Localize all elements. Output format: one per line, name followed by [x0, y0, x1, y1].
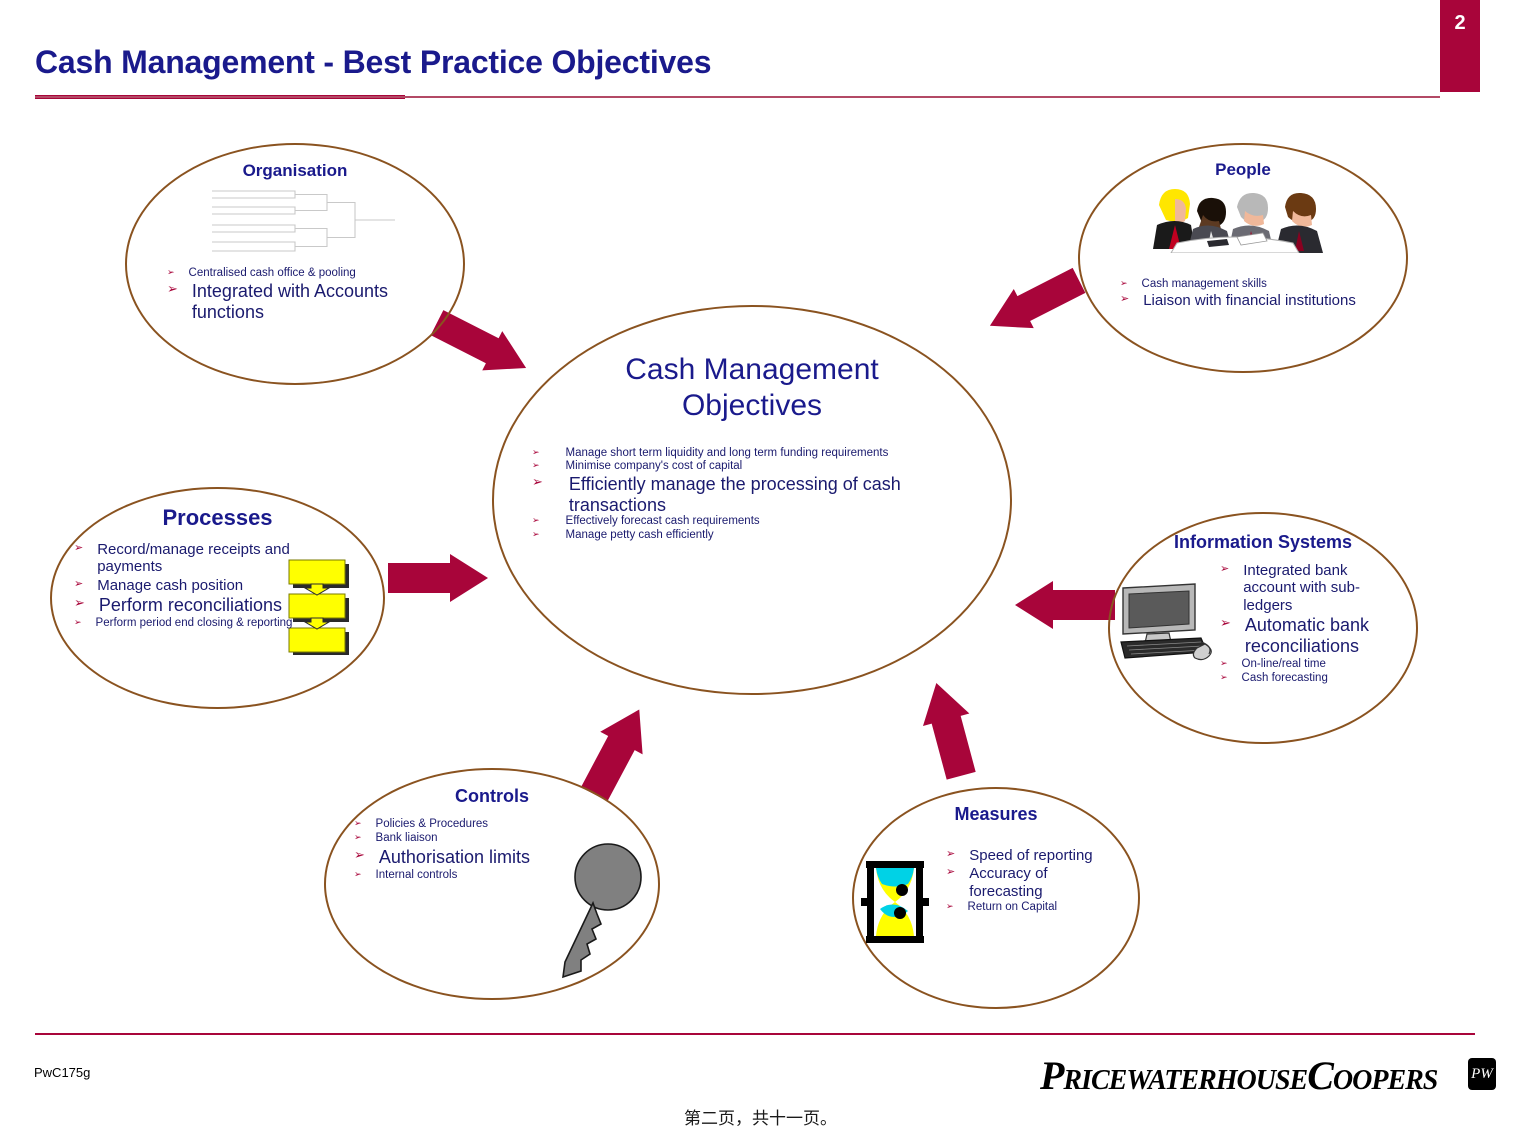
bullet-item: ➢Perform reconciliations — [74, 595, 324, 616]
people-meeting-icon — [1145, 181, 1330, 253]
arrow-information-systems-to-center — [1015, 581, 1115, 629]
bullet-item: ➢Manage cash position — [74, 577, 324, 594]
page-number-badge: 2 — [1440, 0, 1480, 92]
bullet-item: ➢Policies & Procedures — [354, 818, 604, 831]
bullet-item: ➢Integrated bank account with sub-ledger… — [1220, 562, 1390, 614]
bullet-text: Effectively forecast cash requirements — [566, 515, 760, 528]
bullet-marker-icon: ➢ — [1220, 672, 1228, 684]
bullet-item: ➢Minimise company's cost of capital — [532, 460, 992, 473]
bullet-item: ➢Manage petty cash efficiently — [532, 529, 992, 542]
bullet-item: ➢Manage short term liquidity and long te… — [532, 447, 992, 460]
arrow-people-to-center — [980, 261, 1089, 346]
bullet-item: ➢Effectively forecast cash requirements — [532, 515, 992, 528]
bullet-marker-icon: ➢ — [532, 529, 540, 541]
node-bullet-list-measures: ➢Speed of reporting➢Accuracy of forecast… — [946, 847, 1121, 916]
footer-page-label: 第二页，共十一页。 — [0, 1104, 1521, 1129]
node-title-people: People — [1080, 160, 1406, 180]
bullet-marker-icon: ➢ — [1220, 658, 1228, 670]
bullet-text: Cash management skills — [1142, 278, 1267, 291]
bullet-marker-icon: ➢ — [354, 818, 362, 830]
node-ellipse-processes: Processes ➢Record/manage receipts and pa… — [50, 487, 385, 709]
bullet-text: Accuracy of forecasting — [969, 865, 1121, 900]
bullet-item: ➢Perform period end closing & reporting — [74, 617, 324, 630]
bullet-text: On-line/real time — [1242, 658, 1326, 671]
org-chart-icon — [209, 187, 399, 259]
bullet-text: Automatic bank reconciliations — [1245, 615, 1390, 657]
bullet-item: ➢Authorisation limits — [354, 847, 604, 868]
bullet-text: Manage cash position — [97, 577, 243, 594]
node-ellipse-controls: Controls ➢Policies & Procedures➢Bank lia… — [324, 768, 660, 1000]
arrow-measures-to-center — [913, 677, 984, 782]
bullet-text: Bank liaison — [376, 832, 438, 845]
bullet-text: Authorisation limits — [379, 847, 530, 868]
bullet-marker-icon: ➢ — [946, 901, 954, 913]
bullet-item: ➢Record/manage receipts and payments — [74, 541, 324, 576]
bullet-marker-icon: ➢ — [74, 617, 82, 629]
hourglass-icon — [852, 859, 942, 945]
node-title-measures: Measures — [854, 804, 1138, 825]
arrow-processes-to-center — [388, 554, 488, 602]
bullet-text: Liaison with financial institutions — [1143, 292, 1356, 309]
bullet-text: Manage petty cash efficiently — [566, 529, 714, 542]
bullet-text: Integrated bank account with sub-ledgers — [1243, 562, 1390, 614]
bullet-item: ➢Bank liaison — [354, 832, 604, 845]
bullet-marker-icon: ➢ — [74, 595, 85, 612]
bullet-marker-icon: ➢ — [946, 865, 955, 879]
center-title-line1: Cash Management — [494, 352, 1010, 388]
bullet-text: Return on Capital — [968, 901, 1058, 914]
bullet-text: Speed of reporting — [969, 847, 1092, 864]
node-title-information-systems: Information Systems — [1110, 532, 1416, 553]
footer-document-code: PwC175g — [34, 1065, 90, 1080]
bullet-marker-icon: ➢ — [1220, 615, 1231, 632]
bullet-marker-icon: ➢ — [532, 515, 540, 527]
center-title: Cash Management Objectives — [494, 352, 1010, 424]
node-title-organisation: Organisation — [127, 161, 463, 181]
center-title-line2: Objectives — [494, 388, 1010, 424]
bullet-text: Perform reconciliations — [99, 595, 282, 616]
node-bullet-list-processes: ➢Record/manage receipts and payments➢Man… — [74, 541, 324, 631]
bullet-text: Perform period end closing & reporting — [96, 617, 293, 630]
node-bullet-list-people: ➢Cash management skills➢Liaison with fin… — [1120, 278, 1390, 311]
node-bullet-list-controls: ➢Policies & Procedures➢Bank liaison➢Auth… — [354, 818, 604, 883]
node-bullet-list-information-systems: ➢Integrated bank account with sub-ledger… — [1220, 562, 1390, 687]
page-number-value: 2 — [1454, 12, 1465, 35]
bullet-marker-icon: ➢ — [167, 267, 175, 279]
bullet-text: Cash forecasting — [1242, 672, 1328, 685]
page-title: Cash Management - Best Practice Objectiv… — [35, 44, 711, 81]
bullet-item: ➢Integrated with Accounts functions — [167, 281, 435, 323]
bullet-item: ➢Internal controls — [354, 869, 604, 882]
footer-rule — [35, 1033, 1475, 1035]
node-ellipse-information-systems: Information Systems ➢Integrated bank acc… — [1108, 512, 1418, 744]
bullet-item: ➢Speed of reporting — [946, 847, 1121, 864]
bullet-marker-icon: ➢ — [354, 832, 362, 844]
bullet-item: ➢Cash forecasting — [1220, 672, 1390, 685]
bullet-text: Record/manage receipts and payments — [97, 541, 324, 576]
bullet-text: Efficiently manage the processing of cas… — [569, 474, 992, 516]
bullet-text: Integrated with Accounts functions — [192, 281, 435, 323]
bullet-marker-icon: ➢ — [74, 541, 83, 555]
node-ellipse-organisation: Organisation ➢Centralised cash office & … — [125, 143, 465, 385]
bullet-marker-icon: ➢ — [946, 847, 955, 861]
bullet-item: ➢Cash management skills — [1120, 278, 1390, 291]
bullet-marker-icon: ➢ — [167, 281, 178, 298]
node-bullet-list-organisation: ➢Centralised cash office & pooling➢Integ… — [167, 267, 435, 324]
bullet-item: ➢On-line/real time — [1220, 658, 1390, 671]
center-ellipse-cash-management-objectives: Cash Management Objectives ➢Manage short… — [492, 305, 1012, 695]
bullet-text: Policies & Procedures — [376, 818, 489, 831]
node-title-processes: Processes — [52, 505, 383, 531]
node-title-controls: Controls — [326, 786, 658, 807]
bullet-text: Minimise company's cost of capital — [566, 460, 743, 473]
computer-icon — [1117, 582, 1217, 666]
bullet-item: ➢Efficiently manage the processing of ca… — [532, 474, 992, 516]
bullet-marker-icon: ➢ — [1120, 278, 1128, 290]
bullet-marker-icon: ➢ — [1120, 292, 1129, 306]
bullet-marker-icon: ➢ — [532, 474, 543, 491]
pwc-logo-mark: PW — [1468, 1058, 1496, 1090]
node-ellipse-measures: Measures ➢Speed of reporting➢Accuracy of… — [852, 787, 1140, 1009]
header-rule-thin — [35, 96, 1440, 98]
bullet-marker-icon: ➢ — [532, 460, 540, 472]
bullet-item: ➢Accuracy of forecasting — [946, 865, 1121, 900]
bullet-text: Centralised cash office & pooling — [189, 267, 356, 280]
bullet-marker-icon: ➢ — [532, 447, 540, 459]
bullet-marker-icon: ➢ — [354, 847, 365, 864]
center-bullet-list: ➢Manage short term liquidity and long te… — [532, 447, 992, 542]
pwc-logo: PricewaterhouseCoopers — [1040, 1052, 1437, 1099]
bullet-item: ➢Liaison with financial institutions — [1120, 292, 1390, 309]
bullet-marker-icon: ➢ — [1220, 562, 1229, 576]
bullet-item: ➢Centralised cash office & pooling — [167, 267, 435, 280]
bullet-marker-icon: ➢ — [354, 869, 362, 881]
bullet-item: ➢Automatic bank reconciliations — [1220, 615, 1390, 657]
bullet-item: ➢Return on Capital — [946, 901, 1121, 914]
bullet-marker-icon: ➢ — [74, 577, 83, 591]
bullet-text: Internal controls — [376, 869, 458, 882]
bullet-text: Manage short term liquidity and long ter… — [566, 447, 889, 460]
node-ellipse-people: People ➢Cash management skills➢Liaison w… — [1078, 143, 1408, 373]
